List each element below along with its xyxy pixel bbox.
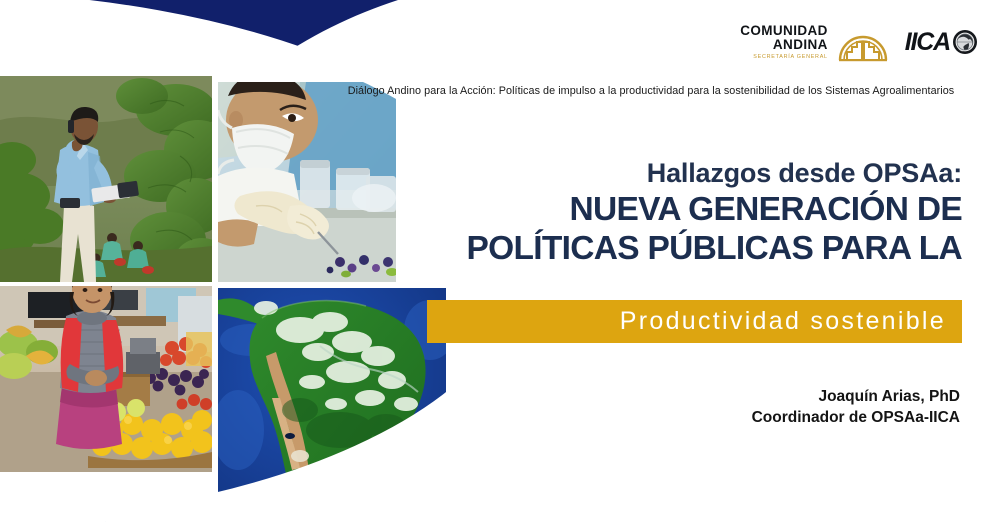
ca-line-1: COMUNIDAD [740, 24, 828, 38]
mobile-phone-icon [68, 120, 74, 133]
title-block: Hallazgos desde OPSAa: NUEVA GENERACIÓN … [342, 158, 962, 269]
title-line-1: NUEVA GENERACIÓN DE [342, 191, 962, 230]
highlight-text: Productividad sostenible [620, 309, 946, 334]
photo-collage [0, 73, 456, 522]
photo-coffee-farmer [0, 76, 232, 286]
title-line-2: POLÍTICAS PÚBLICAS PARA LA [342, 230, 962, 269]
highlight-bar: Productividad sostenible [427, 300, 962, 343]
globe-icon [952, 29, 978, 55]
andean-arch-icon [837, 22, 889, 62]
ca-line-2: ANDINA [740, 38, 828, 52]
event-subtitle: Diálogo Andino para la Acción: Políticas… [336, 84, 966, 98]
author-role: Coordinador de OPSAa-IICA [752, 407, 960, 428]
slide-root: COMUNIDAD ANDINA SECRETARÍA GENERAL IICA [0, 0, 1000, 522]
title-main: NUEVA GENERACIÓN DE POLÍTICAS PÚBLICAS P… [342, 191, 962, 269]
iica-wordmark: IICA [905, 28, 950, 57]
logo-row: COMUNIDAD ANDINA SECRETARÍA GENERAL IICA [740, 22, 978, 62]
author-name: Joaquín Arias, PhD [752, 386, 960, 407]
iica-logo: IICA [905, 28, 978, 57]
comunidad-andina-wordmark: COMUNIDAD ANDINA SECRETARÍA GENERAL [740, 24, 828, 60]
author-block: Joaquín Arias, PhD Coordinador de OPSAa-… [752, 386, 960, 429]
ca-line-3: SECRETARÍA GENERAL [740, 55, 828, 60]
photo-market-vendor [0, 266, 213, 472]
title-kicker: Hallazgos desde OPSAa: [342, 158, 962, 188]
comunidad-andina-logo: COMUNIDAD ANDINA SECRETARÍA GENERAL [740, 22, 889, 62]
